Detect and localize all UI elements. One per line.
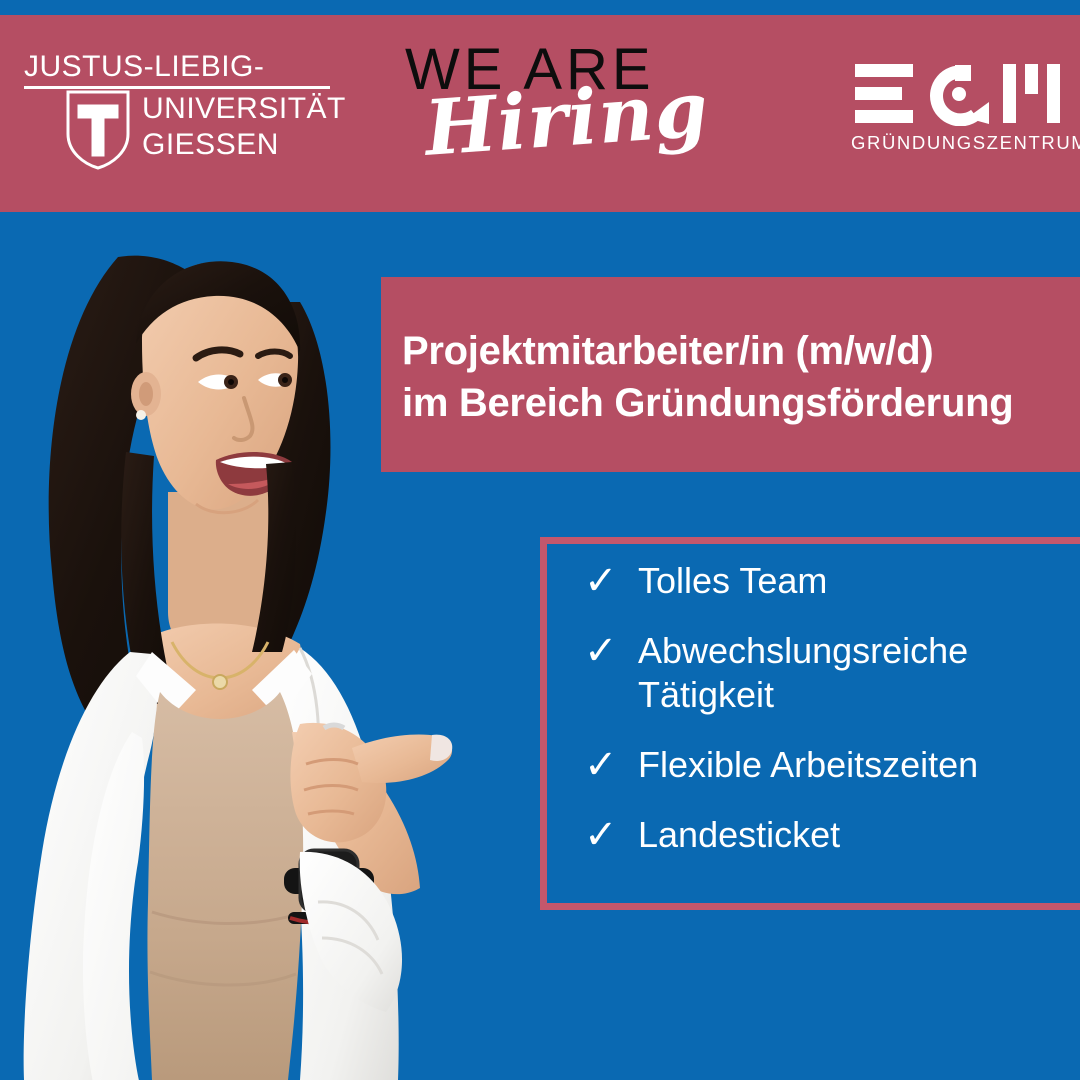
- check-icon: ✓: [584, 743, 638, 787]
- benefit-label: Abwechslungsreiche Tätigkeit: [638, 629, 1038, 717]
- benefit-label: Flexible Arbeitszeiten: [638, 743, 1038, 787]
- job-ad-poster: JUSTUS-LIEBIG- UNIVERSITÄT GIESSEN WE AR…: [0, 0, 1080, 1080]
- egm-logo-icon: [855, 62, 1062, 126]
- check-icon: ✓: [584, 813, 638, 857]
- university-logo-line2: UNIVERSITÄT: [142, 92, 346, 126]
- university-logo: JUSTUS-LIEBIG- UNIVERSITÄT GIESSEN: [22, 50, 362, 168]
- job-title-banner: Projektmitarbeiter/in (m/w/d) im Bereich…: [381, 277, 1080, 472]
- check-icon: ✓: [584, 629, 638, 673]
- job-title-line2: im Bereich Gründungsförderung: [402, 377, 1062, 429]
- university-logo-divider: [24, 86, 330, 89]
- egm-logo-subtitle: GRÜNDUNGSZENTRUM: [851, 132, 1066, 154]
- university-logo-line1: JUSTUS-LIEBIG-: [24, 50, 264, 84]
- benefits-list: ✓ Tolles Team ✓ Abwechslungsreiche Tätig…: [560, 537, 1080, 910]
- hiring-script-text: Hiring: [422, 64, 712, 173]
- job-title: Projektmitarbeiter/in (m/w/d) im Bereich…: [402, 325, 1062, 429]
- we-are-hiring-headline: WE ARE Hiring: [385, 36, 715, 186]
- jlu-shield-icon: [66, 90, 130, 170]
- egm-logo: GRÜNDUNGSZENTRUM: [851, 62, 1066, 157]
- list-item: ✓ Abwechslungsreiche Tätigkeit: [584, 629, 1080, 717]
- benefit-label: Tolles Team: [638, 559, 1038, 603]
- list-item: ✓ Landesticket: [584, 813, 1080, 857]
- check-icon: ✓: [584, 559, 638, 603]
- benefit-label: Landesticket: [638, 813, 1038, 857]
- list-item: ✓ Flexible Arbeitszeiten: [584, 743, 1080, 787]
- list-item: ✓ Tolles Team: [584, 559, 1080, 603]
- university-logo-line3: GIESSEN: [142, 128, 279, 162]
- job-title-line1: Projektmitarbeiter/in (m/w/d): [402, 325, 1062, 377]
